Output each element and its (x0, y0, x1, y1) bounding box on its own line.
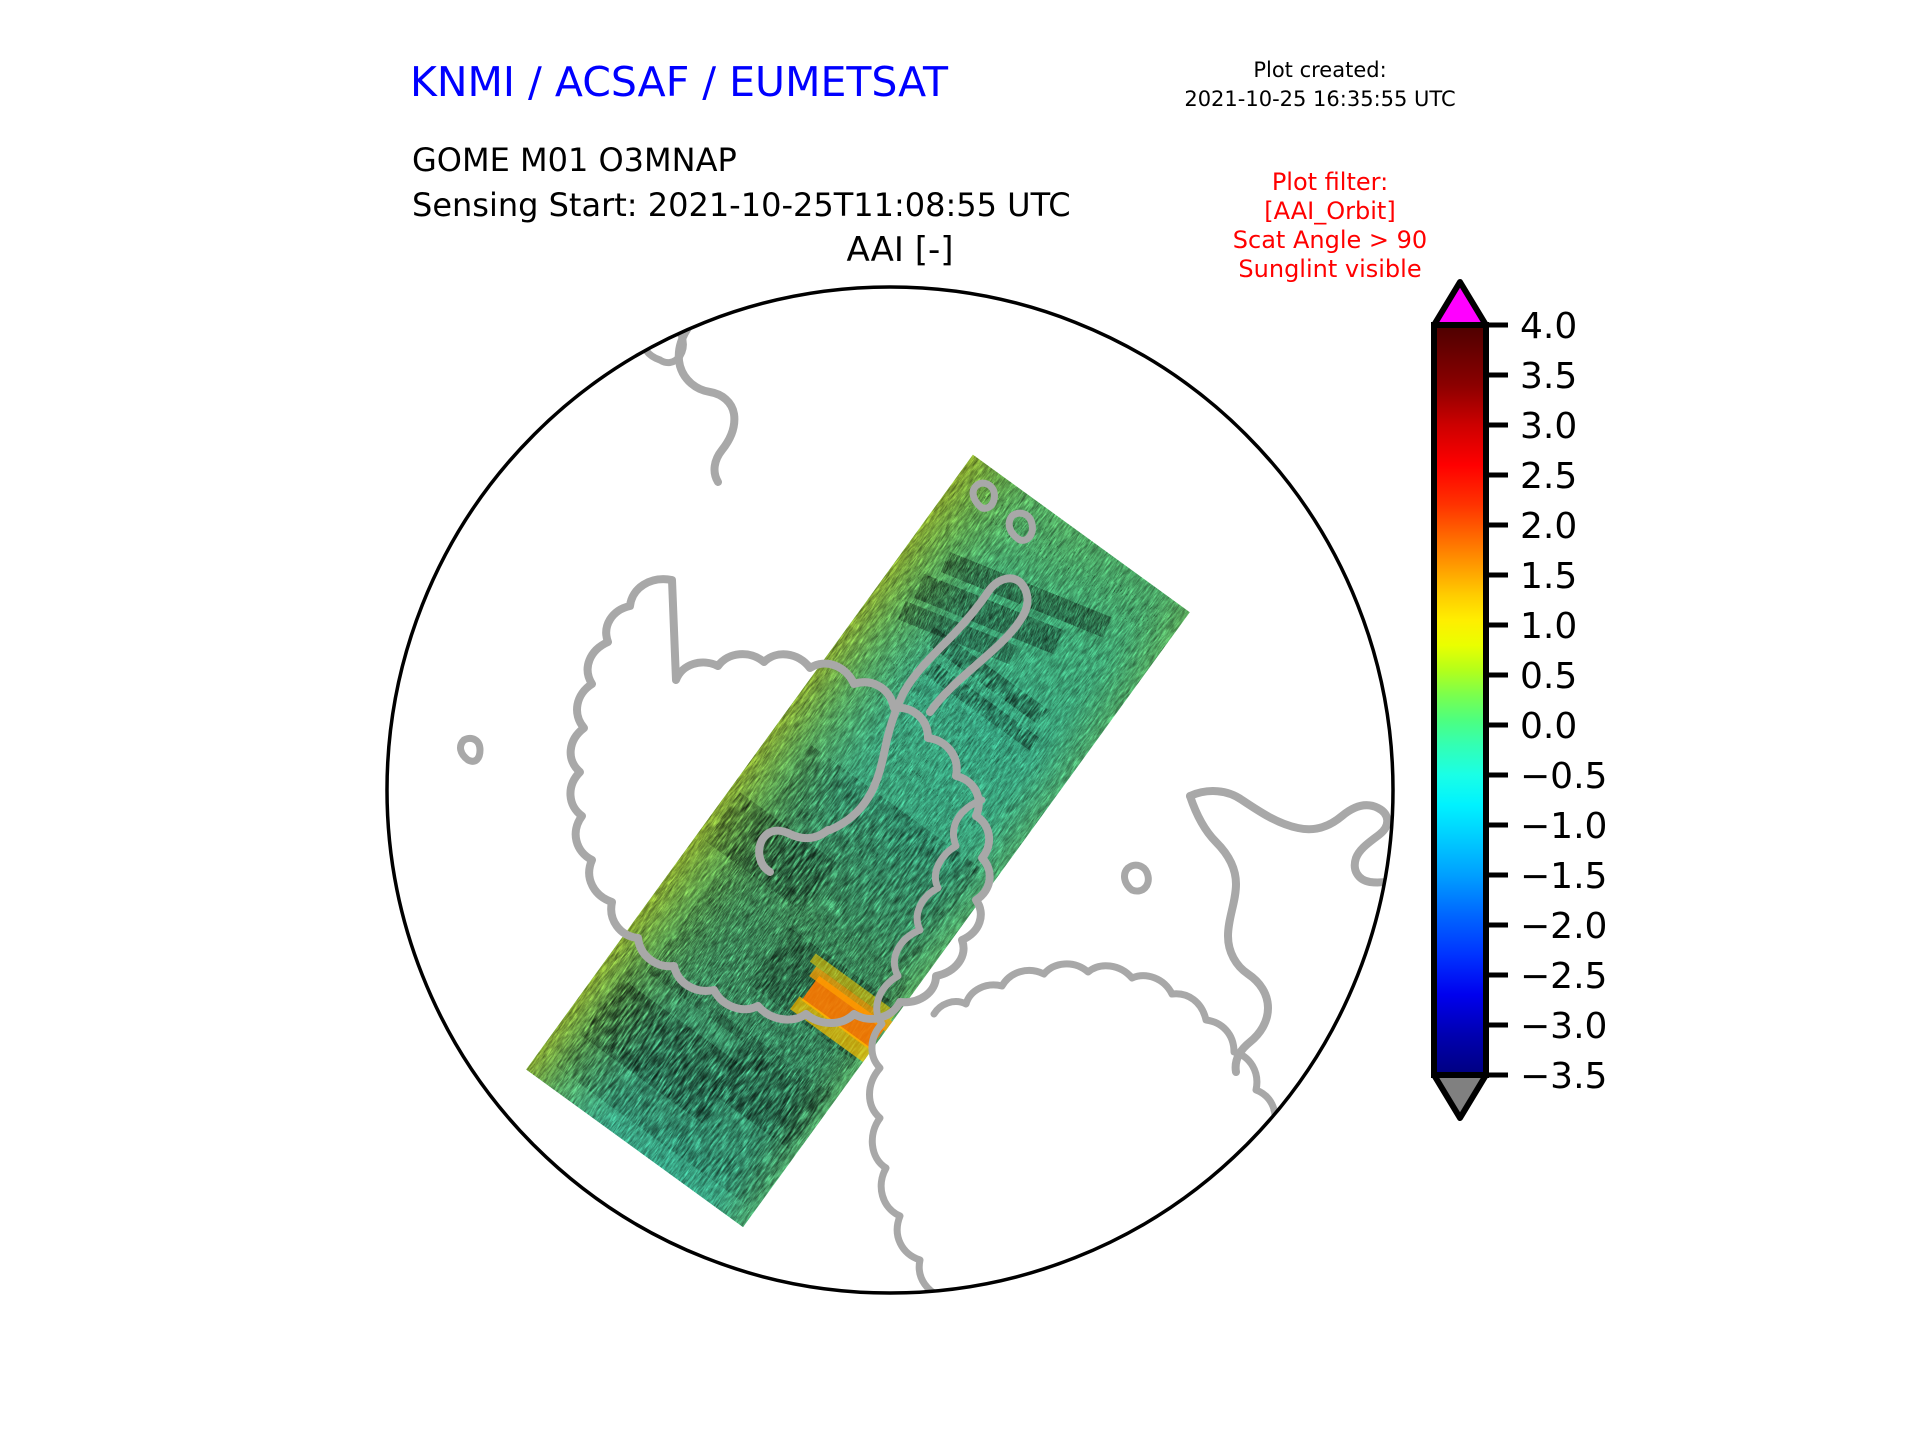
colorbar-tick-label: −3.0 (1520, 1006, 1607, 1047)
colorbar-tick-label: 2.0 (1520, 506, 1577, 547)
colorbar-ticks: 4.03.53.02.52.01.51.00.50.0−0.5−1.0−1.5−… (1486, 306, 1607, 1097)
map-panel (330, 240, 1460, 1370)
colorbar-tick-label: 3.5 (1520, 356, 1577, 397)
colorbar-gradient (1434, 325, 1486, 1075)
island-peninsula-fragment (544, 300, 654, 358)
plot-filter-label: Plot filter: (1180, 168, 1480, 197)
colorbar-tick-label: −0.5 (1520, 756, 1607, 797)
plot-created-block: Plot created: 2021-10-25 16:35:55 UTC (1155, 56, 1485, 114)
colorbar-under-arrow (1434, 1075, 1486, 1118)
colorbar-tick-label: −2.5 (1520, 956, 1607, 997)
agency-title: KNMI / ACSAF / EUMETSAT (410, 58, 948, 106)
plot-created-value: 2021-10-25 16:35:55 UTC (1155, 85, 1485, 114)
colorbar-tick-label: 2.5 (1520, 456, 1577, 497)
polar-map (330, 240, 1460, 1370)
colorbar-tick-label: 0.0 (1520, 706, 1577, 747)
colorbar-over-arrow (1434, 282, 1486, 325)
sensing-start-title: Sensing Start: 2021-10-25T11:08:55 UTC (412, 186, 1071, 224)
colorbar: 4.03.53.02.52.01.51.00.50.0−0.5−1.0−1.5−… (1420, 270, 1750, 1320)
colorbar-tick-label: −1.0 (1520, 806, 1607, 847)
colorbar-tick-label: −2.0 (1520, 906, 1607, 947)
colorbar-tick-label: 0.5 (1520, 656, 1577, 697)
colorbar-tick-label: 4.0 (1520, 306, 1577, 347)
plot-filter-name: [AAI_Orbit] (1180, 197, 1480, 226)
colorbar-panel: 4.03.53.02.52.01.51.00.50.0−0.5−1.0−1.5−… (1420, 270, 1750, 1320)
product-title: GOME M01 O3MNAP (412, 141, 737, 179)
colorbar-tick-label: −3.5 (1520, 1056, 1607, 1097)
colorbar-tick-label: 1.5 (1520, 556, 1577, 597)
colorbar-tick-label: 3.0 (1520, 406, 1577, 447)
colorbar-tick-label: 1.0 (1520, 606, 1577, 647)
plot-created-label: Plot created: (1155, 56, 1485, 85)
plot-page: KNMI / ACSAF / EUMETSAT Plot created: 20… (0, 0, 1920, 1440)
colorbar-tick-label: −1.5 (1520, 856, 1607, 897)
